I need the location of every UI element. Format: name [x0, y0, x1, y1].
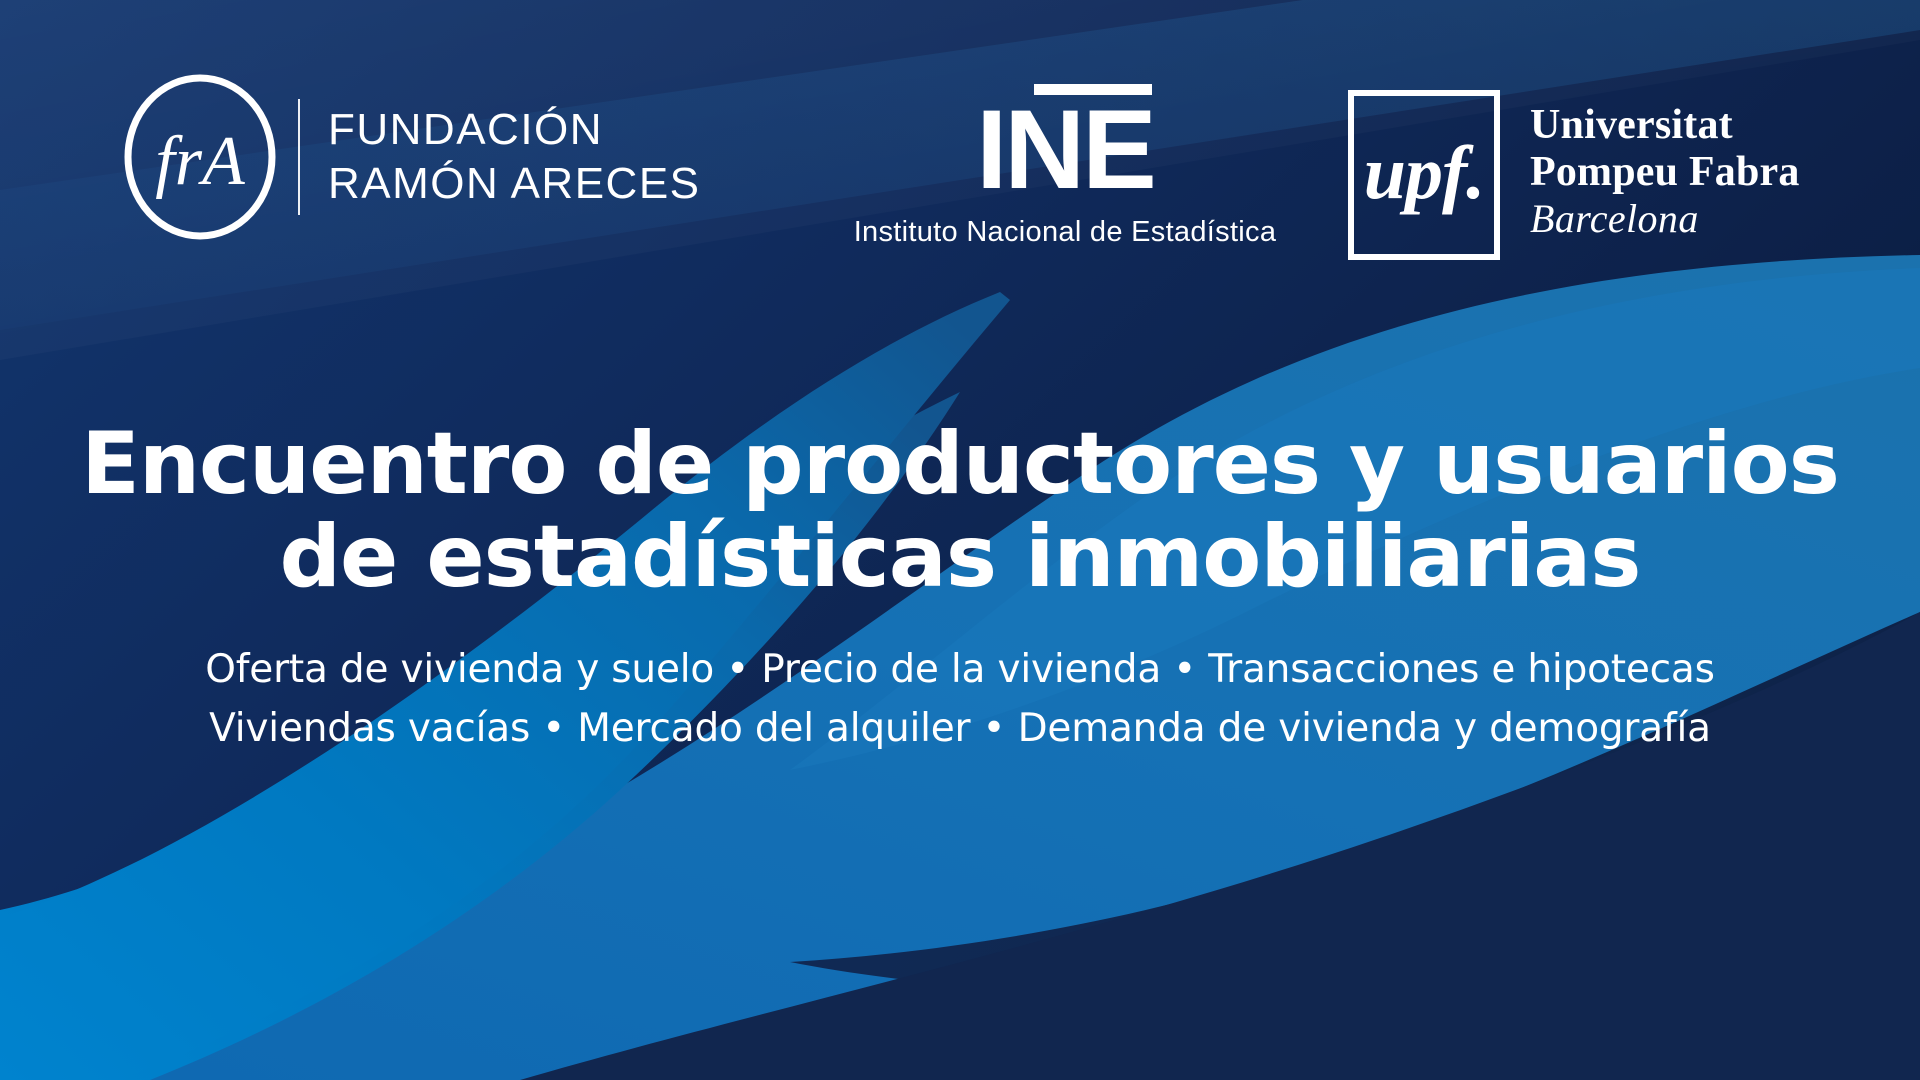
upf-name-block: Universitat Pompeu Fabra Barcelona [1530, 90, 1800, 242]
sponsor-logo-bar: frA FUNDACIÓN RAMÓN ARECES INE Instituto… [0, 62, 1920, 262]
event-topics: Oferta de vivienda y suelo • Precio de l… [0, 640, 1920, 759]
logo-upf: upf. Universitat Pompeu Fabra Barcelona [1348, 90, 1800, 260]
ine-wordmark: INE [976, 80, 1154, 206]
poster-canvas: frA FUNDACIÓN RAMÓN ARECES INE Instituto… [0, 0, 1920, 1080]
event-title-line-1: Encuentro de productores y usuarios [0, 418, 1920, 511]
upf-name-line-1: Universitat [1530, 102, 1800, 149]
logo-divider-rule [298, 99, 300, 215]
fra-circle-icon: frA [120, 72, 280, 242]
logo-ine: INE Instituto Nacional de Estadística [845, 80, 1285, 249]
logo-fundacion-ramon-areces: frA FUNDACIÓN RAMÓN ARECES [120, 72, 701, 242]
event-title: Encuentro de productores y usuarios de e… [0, 418, 1920, 604]
ine-tagline: Instituto Nacional de Estadística [845, 216, 1285, 249]
upf-box-icon: upf. [1348, 90, 1500, 260]
upf-name-line-3: Barcelona [1530, 196, 1800, 242]
svg-text:frA: frA [155, 123, 245, 200]
upf-monogram: upf. [1364, 135, 1485, 211]
upf-name-line-2: Pompeu Fabra [1530, 149, 1800, 196]
event-topics-line-2: Viviendas vacías • Mercado del alquiler … [0, 699, 1920, 758]
ine-macron-bar [1034, 84, 1152, 95]
event-title-line-2: de estadísticas inmobiliarias [0, 511, 1920, 604]
fundacion-ramon-areces-name: FUNDACIÓN RAMÓN ARECES [328, 103, 701, 210]
ine-wordmark-text: INE [976, 87, 1154, 212]
event-topics-line-1: Oferta de vivienda y suelo • Precio de l… [0, 640, 1920, 699]
